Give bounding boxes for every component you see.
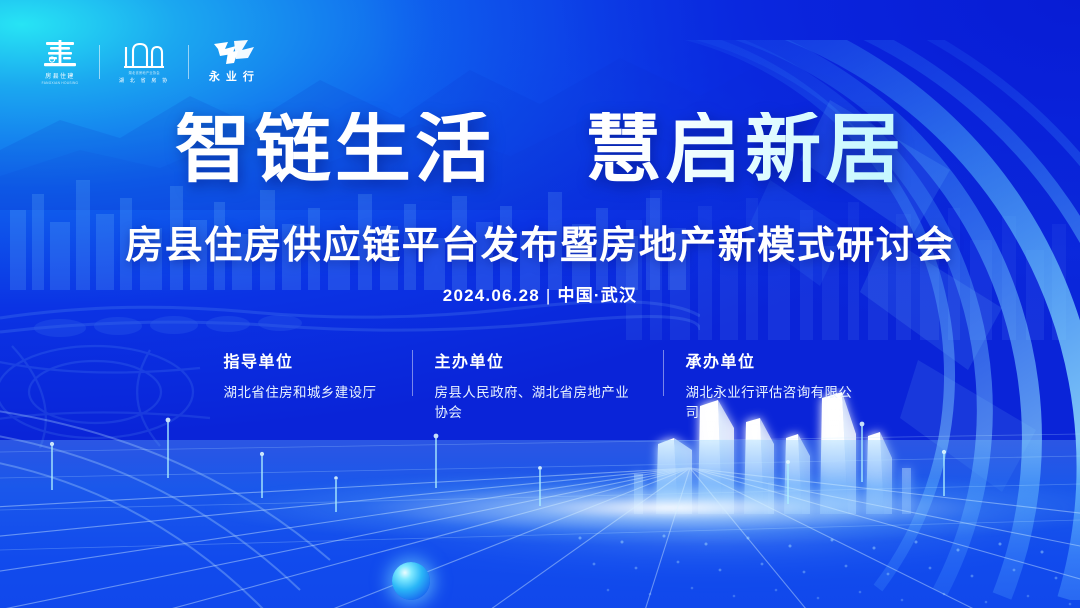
logo-divider-1 — [99, 45, 100, 79]
fangxian-housing-logo-text: 房县住建 — [45, 71, 75, 80]
organizer-name: 湖北省住房和城乡建设厅 — [224, 381, 390, 401]
headline-part-1: 智链生活 — [175, 107, 495, 192]
page-title: 智链生活 慧启新居 — [0, 112, 1080, 188]
organizer-host: 主办单位 房县人民政府、湖北省房地产业协会 — [413, 348, 663, 421]
association-building-icon — [122, 41, 166, 69]
event-location: 中国·武汉 — [558, 286, 638, 305]
organizer-undertaker: 承办单位 湖北永业行评估咨询有限公司 — [664, 348, 879, 421]
organizer-name: 湖北永业行评估咨询有限公司 — [686, 381, 857, 421]
organizer-role-label: 指导单位 — [224, 348, 390, 372]
fangxian-housing-logo-subtext: FANGXIAN HOUSING — [42, 81, 79, 85]
conference-banner: 房县住建 FANGXIAN HOUSING 湖北省房地产业协会 湖 北 省 房 … — [0, 0, 1080, 608]
page-subtitle: 房县住房供应链平台发布暨房地产新模式研讨会 — [0, 214, 1080, 269]
logo-divider-2 — [188, 45, 189, 79]
dateline-separator: | — [546, 286, 552, 305]
hubei-real-estate-association-logo: 湖北省房地产业协会 湖 北 省 房 协 — [119, 36, 169, 88]
organizers-row: 指导单位 湖北省住房和城乡建设厅 主办单位 房县人民政府、湖北省房地产业协会 承… — [0, 348, 1080, 421]
logo-bar: 房县住建 FANGXIAN HOUSING 湖北省房地产业协会 湖 北 省 房 … — [40, 36, 260, 88]
organizer-role-label: 主办单位 — [435, 348, 641, 372]
yongyehang-logo-text: 永业行 — [209, 68, 260, 84]
glowing-sphere — [392, 562, 430, 600]
organizer-role-label: 承办单位 — [686, 348, 857, 372]
data-dot-grid — [560, 520, 1080, 608]
association-logo-subtext: 湖 北 省 房 协 — [119, 77, 169, 84]
event-dateline: 2024.06.28|中国·武汉 — [0, 281, 1080, 306]
yongyehang-mark-icon — [208, 40, 260, 66]
organizer-guidance: 指导单位 湖北省住房和城乡建设厅 — [202, 348, 412, 401]
yongyehang-logo: 永业行 — [208, 36, 260, 88]
fangxian-housing-logo: 房县住建 FANGXIAN HOUSING — [40, 36, 80, 88]
fangxian-housing-icon — [40, 39, 80, 69]
organizer-name: 房县人民政府、湖北省房地产业协会 — [435, 381, 641, 421]
headline-part-2: 慧启新居 — [585, 107, 905, 192]
association-logo-text: 湖北省房地产业协会 — [128, 70, 159, 75]
event-date: 2024.06.28 — [443, 286, 540, 305]
